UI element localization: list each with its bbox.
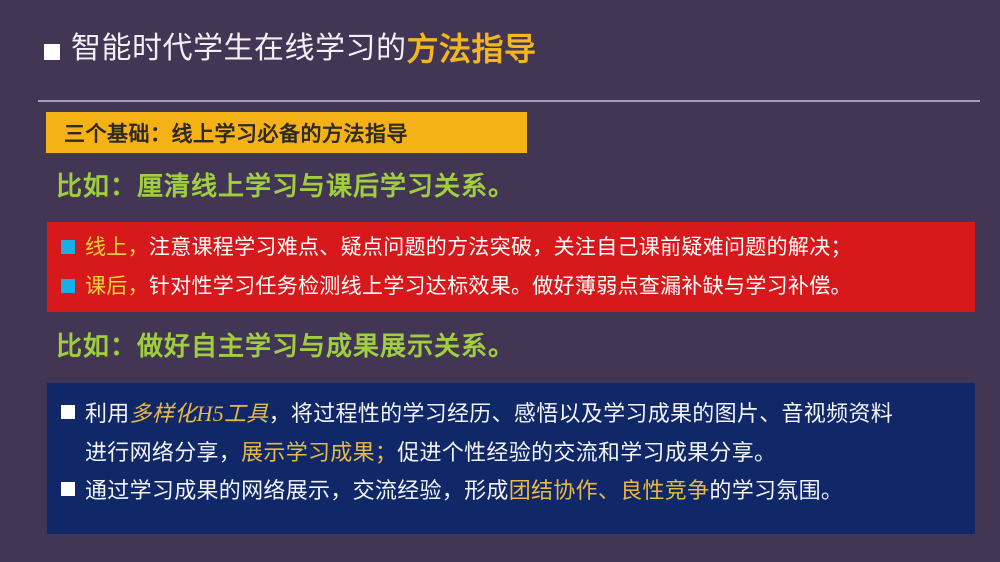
red-list-item: 线上，注意课程学习难点、疑点问题的方法突破，关注自己课前疑难问题的解决； bbox=[61, 231, 961, 264]
title-square-bullet-icon bbox=[44, 44, 60, 60]
white-square-bullet-icon bbox=[61, 405, 75, 419]
blue-list-item-text: 通过学习成果的网络展示，交流经验，形成团结协作、良性竞争的学习氛围。 bbox=[85, 472, 843, 511]
blue-item1-line1-pre: 利用 bbox=[85, 401, 130, 426]
red-item-body: 针对性学习任务检测线上学习达标效果。做好薄弱点查漏补缺与学习补偿。 bbox=[149, 274, 852, 298]
blue-callout-box: 利用多样化H5工具，将过程性的学习经历、感悟以及学习成果的图片、音视频资料 进行… bbox=[47, 383, 975, 534]
blue-item2-highlight: 团结协作、良性竞争 bbox=[509, 478, 710, 503]
red-item-label: 课后， bbox=[85, 274, 149, 298]
blue-item2-post: 的学习氛围。 bbox=[709, 478, 843, 503]
header-divider bbox=[38, 100, 980, 102]
section-banner-label: 三个基础：线上学习必备的方法指导 bbox=[64, 118, 408, 148]
blue-list-item-text: 利用多样化H5工具，将过程性的学习经历、感悟以及学习成果的图片、音视频资料 bbox=[85, 395, 893, 434]
red-callout-box: 线上，注意课程学习难点、疑点问题的方法突破，关注自己课前疑难问题的解决； 课后，… bbox=[47, 222, 975, 312]
blue-list-item: 利用多样化H5工具，将过程性的学习经历、感悟以及学习成果的图片、音视频资料 bbox=[61, 395, 961, 434]
blue-item2-pre: 通过学习成果的网络展示，交流经验，形成 bbox=[85, 478, 509, 503]
cyan-square-bullet-icon bbox=[61, 279, 75, 293]
red-item-body: 注意课程学习难点、疑点问题的方法突破，关注自己课前疑难问题的解决； bbox=[149, 235, 852, 259]
blue-list-item-continuation: 进行网络分享，展示学习成果；促进个性经验的交流和学习成果分享。 bbox=[61, 434, 961, 473]
red-item-label: 线上， bbox=[85, 235, 149, 259]
page-title: 智能时代学生在线学习的 方法指导 bbox=[44, 33, 537, 65]
cyan-square-bullet-icon bbox=[61, 240, 75, 254]
blue-item1-line1-highlight: 多样化H5工具 bbox=[130, 401, 269, 426]
red-list-item-text: 线上，注意课程学习难点、疑点问题的方法突破，关注自己课前疑难问题的解决； bbox=[85, 231, 852, 264]
blue-item1-line1-post: ，将过程性的学习经历、感悟以及学习成果的图片、音视频资料 bbox=[269, 401, 893, 426]
white-square-bullet-icon bbox=[61, 482, 75, 496]
section-banner: 三个基础：线上学习必备的方法指导 bbox=[46, 112, 527, 153]
page-title-main: 智能时代学生在线学习的 bbox=[71, 34, 407, 64]
subheading-second: 比如：做好自主学习与成果展示关系。 bbox=[56, 326, 515, 363]
blue-item1-line2-highlight: 展示学习成果； bbox=[241, 440, 397, 465]
slide-canvas: 智能时代学生在线学习的 方法指导 三个基础：线上学习必备的方法指导 比如：厘清线… bbox=[0, 0, 1000, 562]
blue-item1-line2-post: 促进个性经验的交流和学习成果分享。 bbox=[397, 440, 776, 465]
subheading-first: 比如：厘清线上学习与课后学习关系。 bbox=[56, 166, 515, 203]
red-list-item: 课后，针对性学习任务检测线上学习达标效果。做好薄弱点查漏补缺与学习补偿。 bbox=[61, 270, 961, 303]
blue-item1-line2-pre: 进行网络分享， bbox=[85, 440, 241, 465]
blue-list-item: 通过学习成果的网络展示，交流经验，形成团结协作、良性竞争的学习氛围。 bbox=[61, 472, 961, 511]
red-list-item-text: 课后，针对性学习任务检测线上学习达标效果。做好薄弱点查漏补缺与学习补偿。 bbox=[85, 270, 852, 303]
page-title-accent: 方法指导 bbox=[407, 33, 537, 65]
blue-list-item-text: 进行网络分享，展示学习成果；促进个性经验的交流和学习成果分享。 bbox=[85, 434, 776, 473]
